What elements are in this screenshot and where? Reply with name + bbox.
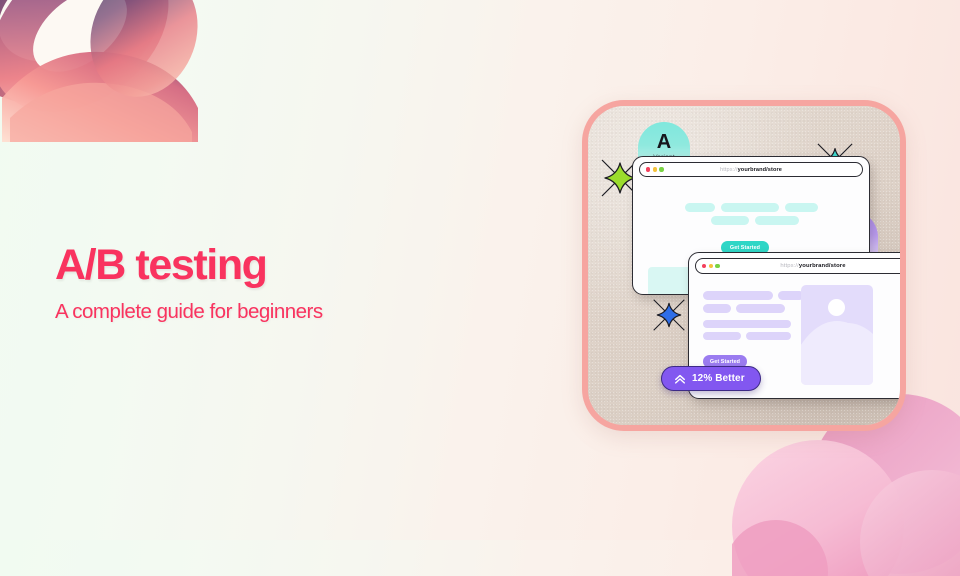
- url-host-variant-a: yourbrand/store: [738, 167, 782, 173]
- result-badge[interactable]: 12% Better: [661, 366, 761, 391]
- skeleton-bar: [721, 203, 779, 212]
- headline-block: A/B testing A complete guide for beginne…: [55, 244, 485, 324]
- url-bar-variant-a[interactable]: https://yourbrand/store: [639, 162, 863, 177]
- traffic-light-red-icon: [702, 264, 706, 268]
- url-host-variant-b: yourbrand/store: [799, 263, 846, 269]
- traffic-light-yellow-icon: [709, 264, 713, 268]
- url-text-variant-b: https://yourbrand/store: [696, 263, 906, 269]
- traffic-light-green-icon: [715, 264, 719, 268]
- url-text-variant-a: https://yourbrand/store: [640, 167, 862, 173]
- page-title: A/B testing: [55, 244, 485, 288]
- skeleton-bar: [755, 216, 799, 225]
- traffic-light-red-icon: [646, 167, 650, 171]
- page-subtitle: A complete guide for beginners: [55, 300, 485, 324]
- traffic-light-green-icon: [659, 167, 663, 171]
- skeleton-bar: [785, 203, 818, 212]
- skeleton-bar: [711, 216, 749, 225]
- double-chevron-up-icon: [674, 373, 686, 385]
- skeleton-bar: [703, 291, 773, 300]
- skeleton-bar: [703, 332, 741, 340]
- url-bar-variant-b[interactable]: https://yourbrand/store: [695, 258, 906, 274]
- image-placeholder-variant-b: [801, 285, 873, 385]
- skeleton-bar: [703, 304, 731, 313]
- ab-test-illustration-card: A Variant B Variant https://yourbrand/st…: [582, 100, 906, 431]
- skeleton-bar: [746, 332, 791, 340]
- sun-circle-icon: [828, 299, 845, 316]
- skeleton-bar: [685, 203, 715, 212]
- traffic-lights-variant-b: [696, 264, 720, 268]
- traffic-light-yellow-icon: [653, 167, 657, 171]
- sparkle-blue-icon: [651, 297, 687, 333]
- skeleton-bar: [703, 320, 791, 328]
- traffic-lights-variant-a: [640, 167, 664, 171]
- url-protocol-variant-b: https://: [780, 263, 798, 269]
- skeleton-bar: [736, 304, 785, 313]
- url-protocol-variant-a: https://: [720, 167, 738, 173]
- variant-a-letter: A: [657, 132, 671, 152]
- result-badge-label: 12% Better: [692, 373, 745, 384]
- decoration-top-left-ribbon: [0, 0, 200, 142]
